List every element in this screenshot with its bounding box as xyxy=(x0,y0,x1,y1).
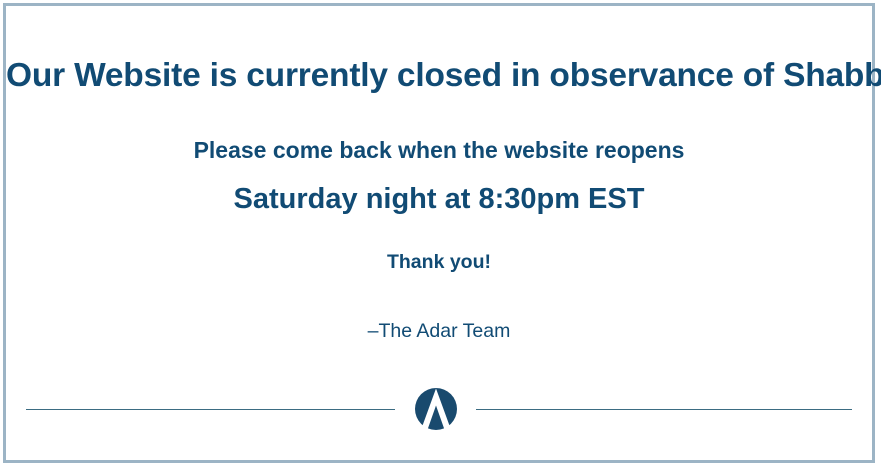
reopen-message: Please come back when the website reopen… xyxy=(6,137,872,163)
adar-circle-a-logo-icon xyxy=(411,384,461,434)
divider-right xyxy=(476,409,852,410)
signature-line: –The Adar Team xyxy=(6,320,872,342)
thank-you-message: Thank you! xyxy=(6,251,872,273)
divider-left xyxy=(26,409,395,410)
page-frame: Our Website is currently closed in obser… xyxy=(3,3,875,463)
closed-notice: Our Website is currently closed in obser… xyxy=(6,6,872,460)
footer-divider xyxy=(6,380,872,438)
page-title: Our Website is currently closed in obser… xyxy=(6,58,872,95)
reopen-time: Saturday night at 8:30pm EST xyxy=(6,183,872,216)
